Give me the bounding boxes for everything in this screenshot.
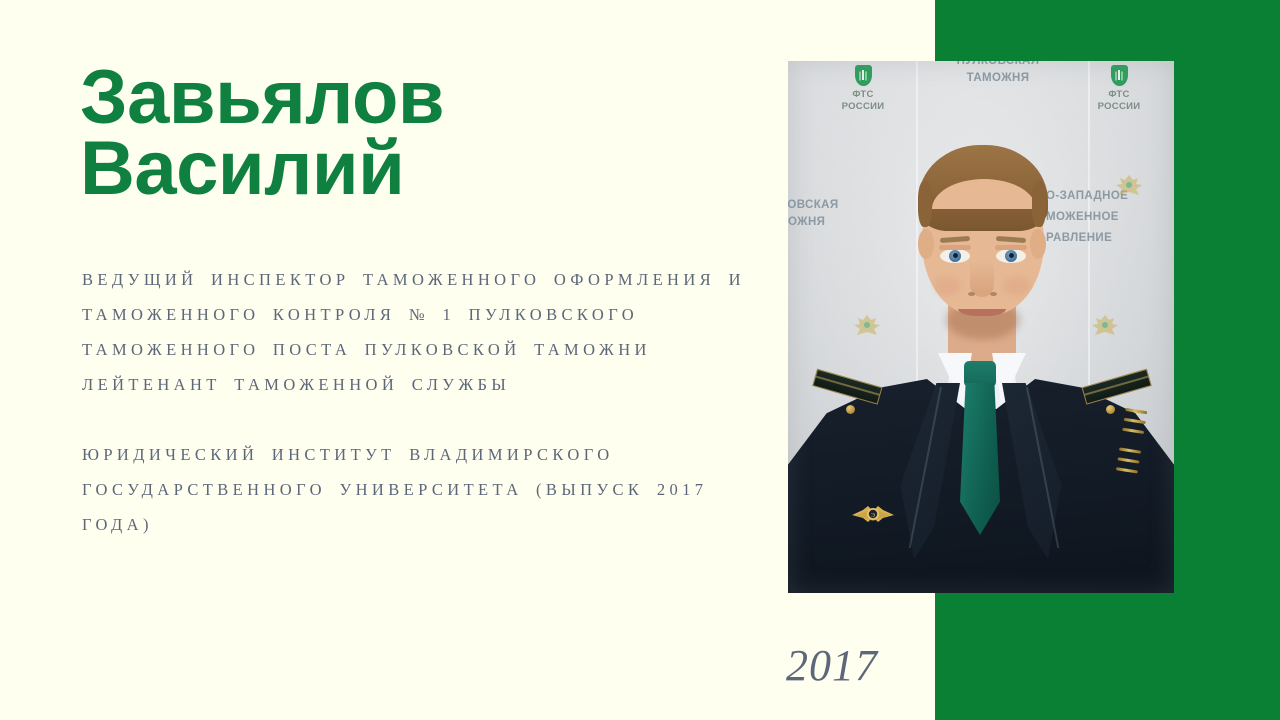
ear-left xyxy=(918,229,934,259)
hair-side-left xyxy=(918,181,932,227)
cheek-right xyxy=(1004,277,1030,295)
title-line-surname: Завьялов xyxy=(80,62,700,133)
gold-star-badge-icon: Э xyxy=(850,502,896,526)
body-text-block: Ведущий инспектор таможенного оформления… xyxy=(82,262,762,542)
ear-right xyxy=(1030,229,1046,259)
slide-canvas: Завьялов Василий Ведущий инспектор тамож… xyxy=(0,0,1280,720)
pupil-right xyxy=(1009,253,1014,258)
rank-stripe xyxy=(1119,447,1141,453)
eye-left xyxy=(940,249,970,263)
pupil-left xyxy=(953,253,958,258)
epaulette-left xyxy=(812,369,882,405)
rank-stripe xyxy=(1125,408,1147,414)
education-paragraph: Юридический институт Владимирского госуд… xyxy=(82,437,762,542)
rank-stripe xyxy=(1116,467,1138,473)
epaulette-button-right xyxy=(1106,405,1115,414)
epaulette-right xyxy=(1082,369,1152,405)
rank-stripe xyxy=(1122,428,1144,434)
year-label: 2017 xyxy=(786,640,878,691)
portrait-photo: ФТС РОССИИ ФТС РОССИИ ПУЛКОВСКАЯ ТАМОЖНЯ… xyxy=(788,61,1174,593)
position-paragraph: Ведущий инспектор таможенного оформления… xyxy=(82,262,762,402)
eye-right xyxy=(996,249,1026,263)
epaulette-button-left xyxy=(846,405,855,414)
person-figure: Э xyxy=(788,61,1174,593)
svg-text:Э: Э xyxy=(871,513,875,519)
epaulette-stripe xyxy=(816,376,880,396)
title-line-given-name: Василий xyxy=(80,133,700,204)
page-title: Завьялов Василий xyxy=(80,62,700,205)
hair-side-right xyxy=(1032,181,1046,227)
nostril-right xyxy=(990,292,997,296)
cheek-left xyxy=(934,277,960,295)
eyelid-left xyxy=(939,245,971,250)
rank-stripe xyxy=(1117,457,1139,463)
rank-stripe xyxy=(1124,418,1146,424)
epaulette-stripe xyxy=(1084,376,1148,396)
hair xyxy=(918,145,1048,231)
chin-shadow xyxy=(960,325,1004,337)
eyelid-right xyxy=(995,245,1027,250)
paragraph-spacer xyxy=(82,402,762,437)
nostril-left xyxy=(968,292,975,296)
